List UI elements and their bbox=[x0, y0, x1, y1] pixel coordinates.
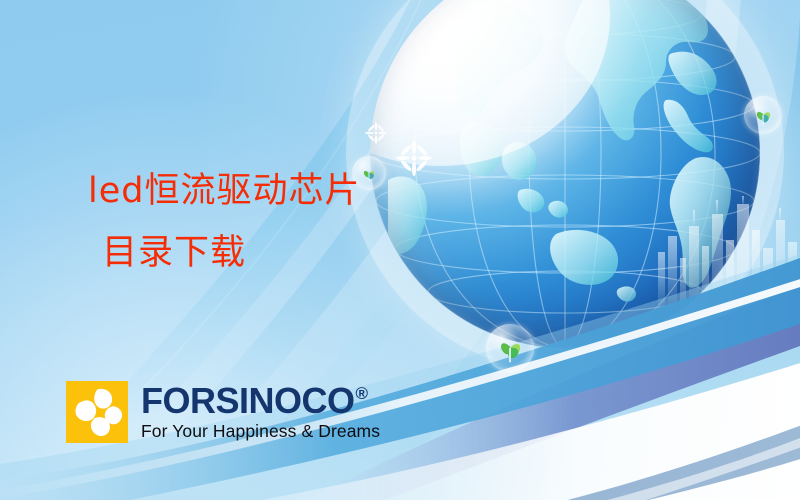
headline: led恒流驱动芯片 目录下载 bbox=[88, 160, 360, 284]
pinwheel-bubble-right bbox=[744, 96, 782, 134]
headline-line-1: led恒流驱动芯片 bbox=[88, 171, 360, 211]
logo-text-block: FORSINOCO ® For Your Happiness & Dreams bbox=[141, 383, 380, 441]
sparkle-small-icon bbox=[365, 122, 387, 144]
logo-wordmark: FORSINOCO ® bbox=[141, 383, 380, 419]
logo-wordmark-text: FORSINOCO bbox=[141, 383, 355, 419]
promo-banner: led恒流驱动芯片 目录下载 FORSINOCO ® For Your Happ… bbox=[0, 0, 800, 500]
diagonal-bottom-bands bbox=[0, 250, 800, 500]
brand-logo[interactable]: FORSINOCO ® For Your Happiness & Dreams bbox=[66, 381, 380, 443]
sparkle-large-icon bbox=[396, 140, 432, 176]
pinwheel-icon bbox=[744, 96, 782, 134]
registered-trademark-icon: ® bbox=[356, 385, 368, 402]
pinwheel-bubble-center bbox=[486, 324, 534, 372]
pinwheel-icon bbox=[486, 324, 534, 372]
forsinoco-flower-mark-icon bbox=[66, 381, 128, 443]
logo-tagline: For Your Happiness & Dreams bbox=[141, 423, 380, 441]
headline-line-2: 目录下载 bbox=[88, 222, 360, 284]
